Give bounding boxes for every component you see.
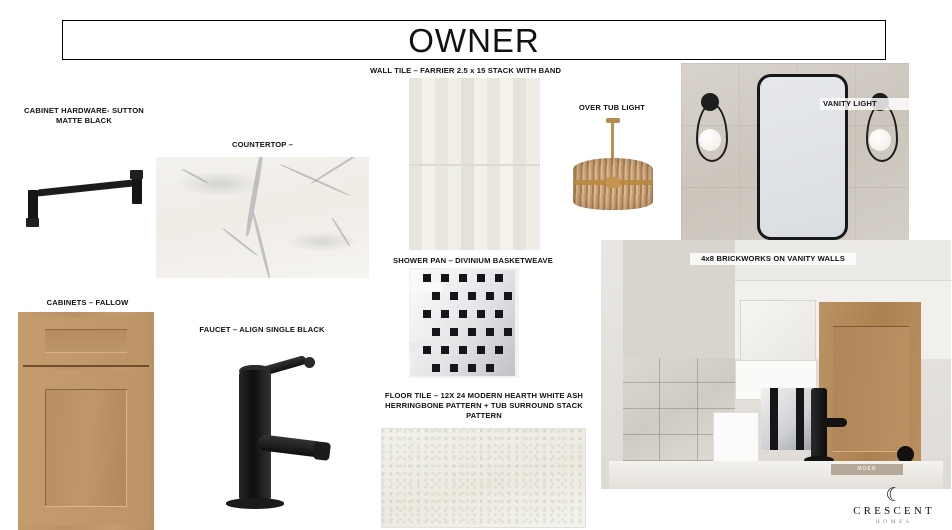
- photo-vanity-mirror-sconces: [681, 63, 909, 249]
- swatch-countertop-marble: [156, 157, 369, 278]
- label-wall-tile: WALL TILE – FARRIER 2.5 x 15 STACK WITH …: [370, 66, 584, 76]
- label-floor-tile: FLOOR TILE – 12X 24 MODERN HEARTH WHITE …: [368, 391, 600, 421]
- label-cabinets: CABINETS – FALLOW: [10, 298, 165, 308]
- faucet-spout-tip: [313, 441, 331, 461]
- label-shower-pan: SHOWER PAN – DIVINIUM BASKETWEAVE: [378, 256, 568, 266]
- crescent-moon-icon: ☾: [845, 486, 943, 505]
- swatch-floor-tile: [381, 428, 586, 528]
- crescent-homes-logo: ☾ CRESCENT HOMES: [845, 486, 943, 526]
- sconce-globe-icon: [699, 129, 721, 151]
- photo-moen-plaque: MOEN: [831, 464, 903, 475]
- faucet-base: [226, 498, 284, 509]
- label-countertop: COUNTERTOP –: [160, 140, 365, 150]
- cabinet-drawer-front: [23, 317, 149, 367]
- photo-cabinet-door-inset: [833, 326, 909, 452]
- cabinet-door-inset: [45, 389, 127, 507]
- faucet-lever-tip: [304, 357, 315, 368]
- light-brass-hub: [606, 177, 620, 188]
- board-title-box: OWNER: [62, 20, 886, 60]
- swatch-cabinet-hardware-pull: [12, 152, 160, 252]
- swatch-faucet: [196, 338, 326, 528]
- photo-marble-slab-sample: [740, 300, 816, 362]
- photo-faucet-spout: [823, 418, 847, 427]
- page-title: OWNER: [408, 24, 540, 57]
- light-rod: [611, 123, 614, 160]
- pull-left-post: [28, 190, 38, 220]
- cabinet-door-front: [23, 369, 149, 525]
- photo-white-card-sample: [713, 412, 759, 464]
- photo-basketweave-sample: [761, 388, 813, 450]
- photo-material-sample-board: MOEN: [601, 240, 951, 489]
- photo-cabinet-door-sample: [819, 302, 921, 462]
- swatch-wall-tile: [409, 78, 540, 250]
- swatch-cabinet-door: [18, 312, 154, 530]
- label-over-tub-light: OVER TUB LIGHT: [556, 103, 668, 113]
- label-brickworks: 4x8 BRICKWORKS ON VANITY WALLS: [690, 253, 856, 265]
- brand-subtitle: HOMES: [845, 518, 943, 526]
- pull-right-foot: [130, 170, 143, 179]
- label-cabinet-hardware: CABINET HARDWARE- SUTTON MATTE BLACK: [4, 106, 164, 126]
- label-vanity-light: VANITY LIGHT: [820, 98, 918, 110]
- cabinet-drawer-inset: [45, 329, 127, 353]
- label-faucet: FAUCET – ALIGN SINGLE BLACK: [178, 325, 346, 335]
- sconce-left: [693, 93, 727, 159]
- pull-bar-shape: [38, 179, 142, 197]
- selections-board: OWNER CABINET HARDWARE- SUTTON MATTE BLA…: [0, 0, 952, 530]
- photo-moen-text: MOEN: [831, 464, 903, 475]
- pull-left-foot: [26, 218, 39, 227]
- brand-name: CRESCENT: [845, 505, 943, 518]
- swatch-shower-pan-basketweave: [409, 268, 519, 378]
- swatch-over-tub-light: [564, 118, 660, 230]
- sconce-globe-icon: [869, 129, 891, 151]
